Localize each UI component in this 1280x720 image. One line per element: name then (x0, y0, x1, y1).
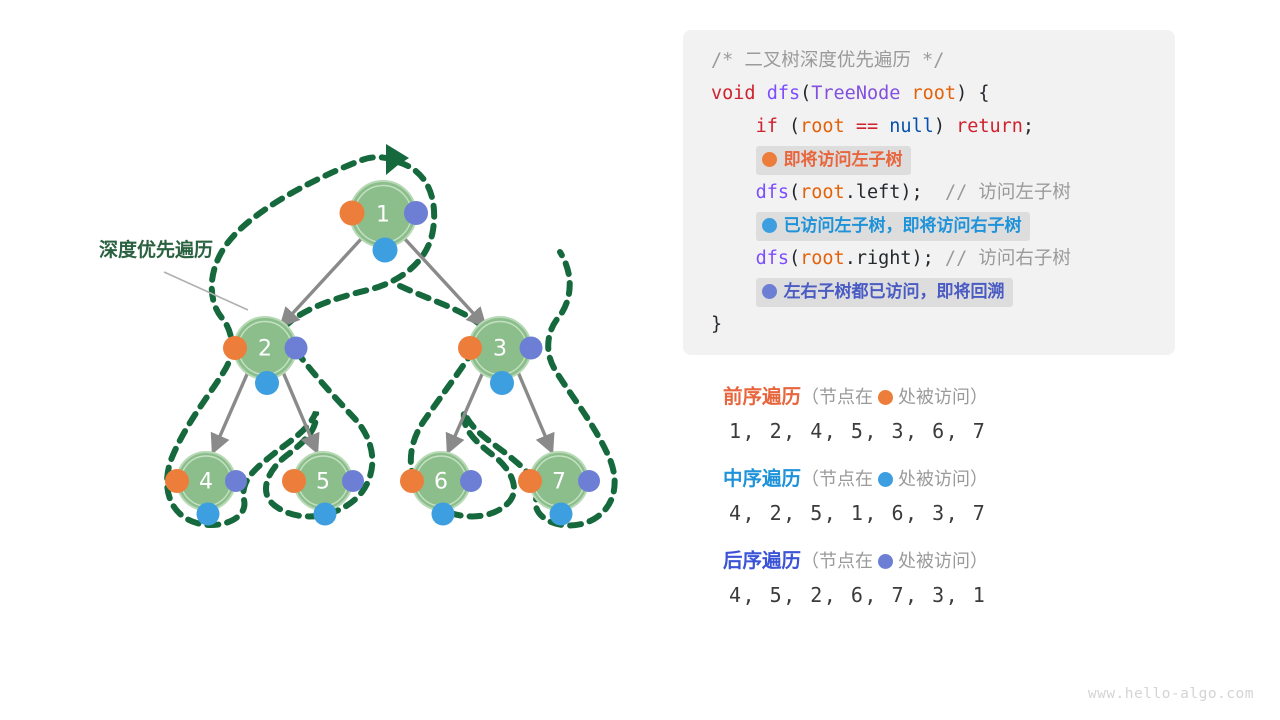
tree-node-label: 5 (316, 470, 330, 495)
right-panel: /* 二叉树深度优先遍历 */ void dfs(TreeNode root) … (683, 0, 1280, 720)
closing-brace: } (711, 314, 722, 335)
inline-comment: // 访问左子树 (923, 182, 1071, 203)
annotation-preorder-text: 即将访问左子树 (784, 150, 903, 170)
traversal-name: 后序遍历 (723, 549, 801, 572)
traversal-block-postorder: 后序遍历（节点在处被访问） 4, 5, 2, 6, 7, 3, 1 (723, 547, 1263, 610)
traversal-heading: 前序遍历（节点在处被访问） (723, 383, 1263, 412)
space (900, 83, 911, 104)
traversal-block-inorder: 中序遍历（节点在处被访问） 4, 2, 5, 1, 6, 3, 7 (723, 465, 1263, 528)
tree-nodes: 1 2 (165, 181, 600, 526)
code-line-comment: /* 二叉树深度优先遍历 */ (683, 44, 1175, 77)
post-order-marker-6 (460, 470, 482, 492)
pre-order-marker-7 (518, 469, 542, 493)
code-line-closing-brace: } (683, 308, 1175, 341)
edge-1-3 (404, 238, 485, 326)
semicolon: ; (1023, 116, 1034, 137)
tree-node-label: 2 (258, 337, 272, 362)
paren-open: ( (789, 182, 800, 203)
post-order-dot-icon (762, 284, 777, 299)
binary-tree-diagram: 1 2 (0, 0, 670, 720)
traversal-block-preorder: 前序遍历（节点在处被访问） 1, 2, 4, 5, 3, 6, 7 (723, 383, 1263, 446)
pre-order-marker-3 (458, 336, 482, 360)
type-treenode: TreeNode (811, 83, 900, 104)
callout-leader-line (164, 272, 248, 310)
traversal-heading: 后序遍历（节点在处被访问） (723, 547, 1263, 576)
post-order-marker-5 (342, 470, 364, 492)
paren-close: ); (900, 182, 922, 203)
code-line-anno-pre: 即将访问左子树 (683, 143, 1175, 176)
tree-svg: 1 2 (0, 0, 670, 720)
figure-root: 1 2 (0, 0, 1280, 720)
tree-node-label: 3 (493, 337, 507, 362)
traversal-name: 前序遍历 (723, 385, 801, 408)
paren-close: ); (912, 248, 934, 269)
code-line-call-right: dfs(root.right); // 访问右子树 (683, 242, 1175, 275)
traversal-note-suffix: 处被访问） (898, 469, 988, 490)
member-right: .right (845, 248, 912, 269)
post-order-marker-4 (225, 470, 247, 492)
pre-order-dot-icon (762, 152, 777, 167)
annotation-postorder-text: 左右子树都已访问，即将回溯 (784, 282, 1005, 302)
pre-order-marker-1 (340, 201, 365, 226)
traversal-sequence: 1, 2, 4, 5, 3, 6, 7 (723, 416, 1263, 446)
inline-comment: // 访问右子树 (934, 248, 1071, 269)
play-arrow-icon (386, 144, 409, 175)
paren-open: ( (778, 116, 800, 137)
paren-close-brace: ) { (956, 83, 989, 104)
in-order-marker-3 (490, 371, 514, 395)
code-line-anno-in: 已访问左子树，即将访问右子树 (683, 209, 1175, 242)
post-order-marker-2 (285, 337, 308, 360)
traversal-note-suffix: 处被访问） (898, 387, 988, 408)
traversal-sequence: 4, 2, 5, 1, 6, 3, 7 (723, 498, 1263, 528)
post-order-marker-7 (578, 470, 600, 492)
traversal-list: 前序遍历（节点在处被访问） 1, 2, 4, 5, 3, 6, 7 中序遍历（节… (723, 383, 1263, 629)
callout-label: 深度优先遍历 (99, 238, 213, 261)
code-line-anno-post: 左右子树都已访问，即将回溯 (683, 275, 1175, 308)
operator-eq: == (845, 116, 890, 137)
pre-order-marker-6 (400, 469, 424, 493)
traversal-sequence: 4, 5, 2, 6, 7, 3, 1 (723, 580, 1263, 610)
paren-open: ( (789, 248, 800, 269)
traversal-note-prefix: （节点在 (801, 469, 873, 490)
in-order-marker-4 (197, 503, 220, 526)
annotation-postorder: 左右子树都已访问，即将回溯 (756, 278, 1013, 307)
edge-1-2 (281, 238, 362, 326)
post-order-marker-1 (404, 201, 428, 225)
pre-order-marker-5 (282, 469, 306, 493)
code-card: /* 二叉树深度优先遍历 */ void dfs(TreeNode root) … (683, 30, 1175, 355)
annotation-preorder: 即将访问左子树 (756, 146, 911, 175)
in-order-marker-5 (314, 503, 337, 526)
in-order-marker-2 (255, 371, 279, 395)
function-name-dfs: dfs (767, 83, 800, 104)
code-line-nullcheck: if (root == null) return; (683, 110, 1175, 143)
in-order-marker-1 (373, 238, 398, 263)
traversal-note-prefix: （节点在 (801, 387, 873, 408)
literal-null: null (889, 116, 934, 137)
function-name-dfs: dfs (756, 248, 789, 269)
var-root: root (800, 248, 845, 269)
traversal-name: 中序遍历 (723, 467, 801, 490)
traversal-note-prefix: （节点在 (801, 551, 873, 572)
edge-3-7 (518, 372, 552, 452)
traversal-heading: 中序遍历（节点在处被访问） (723, 465, 1263, 494)
keyword-if: if (756, 116, 778, 137)
traversal-note-suffix: 处被访问） (898, 551, 988, 572)
post-order-dot-icon (878, 554, 893, 569)
tree-node-label: 6 (434, 470, 448, 495)
annotation-inorder: 已访问左子树，即将访问右子树 (756, 212, 1030, 241)
keyword-return: return (956, 116, 1023, 137)
var-root: root (800, 182, 845, 203)
tree-node-2[interactable]: 2 (223, 317, 308, 395)
pre-order-marker-4 (165, 469, 189, 493)
tree-node-7[interactable]: 7 (518, 452, 600, 526)
member-left: .left (845, 182, 901, 203)
tree-node-label: 7 (552, 470, 566, 495)
pre-order-marker-2 (223, 336, 247, 360)
function-name-dfs: dfs (756, 182, 789, 203)
param-root: root (912, 83, 957, 104)
in-order-dot-icon (762, 218, 777, 233)
code-line-call-left: dfs(root.left); // 访问左子树 (683, 176, 1175, 209)
tree-node-3[interactable]: 3 (458, 317, 543, 395)
pre-order-dot-icon (878, 390, 893, 405)
in-order-marker-6 (432, 503, 455, 526)
paren-open: ( (800, 83, 811, 104)
watermark: www.hello-algo.com (1088, 686, 1254, 702)
in-order-dot-icon (878, 472, 893, 487)
paren-close: ) (934, 116, 956, 137)
keyword-void: void (711, 83, 756, 104)
tree-node-label: 4 (199, 470, 213, 495)
code-line-signature: void dfs(TreeNode root) { (683, 77, 1175, 110)
code-comment: /* 二叉树深度优先遍历 */ (711, 50, 944, 71)
in-order-marker-7 (550, 503, 573, 526)
var-root: root (800, 116, 845, 137)
tree-node-label: 1 (376, 203, 390, 228)
annotation-inorder-text: 已访问左子树，即将访问右子树 (784, 216, 1022, 236)
post-order-marker-3 (520, 337, 543, 360)
